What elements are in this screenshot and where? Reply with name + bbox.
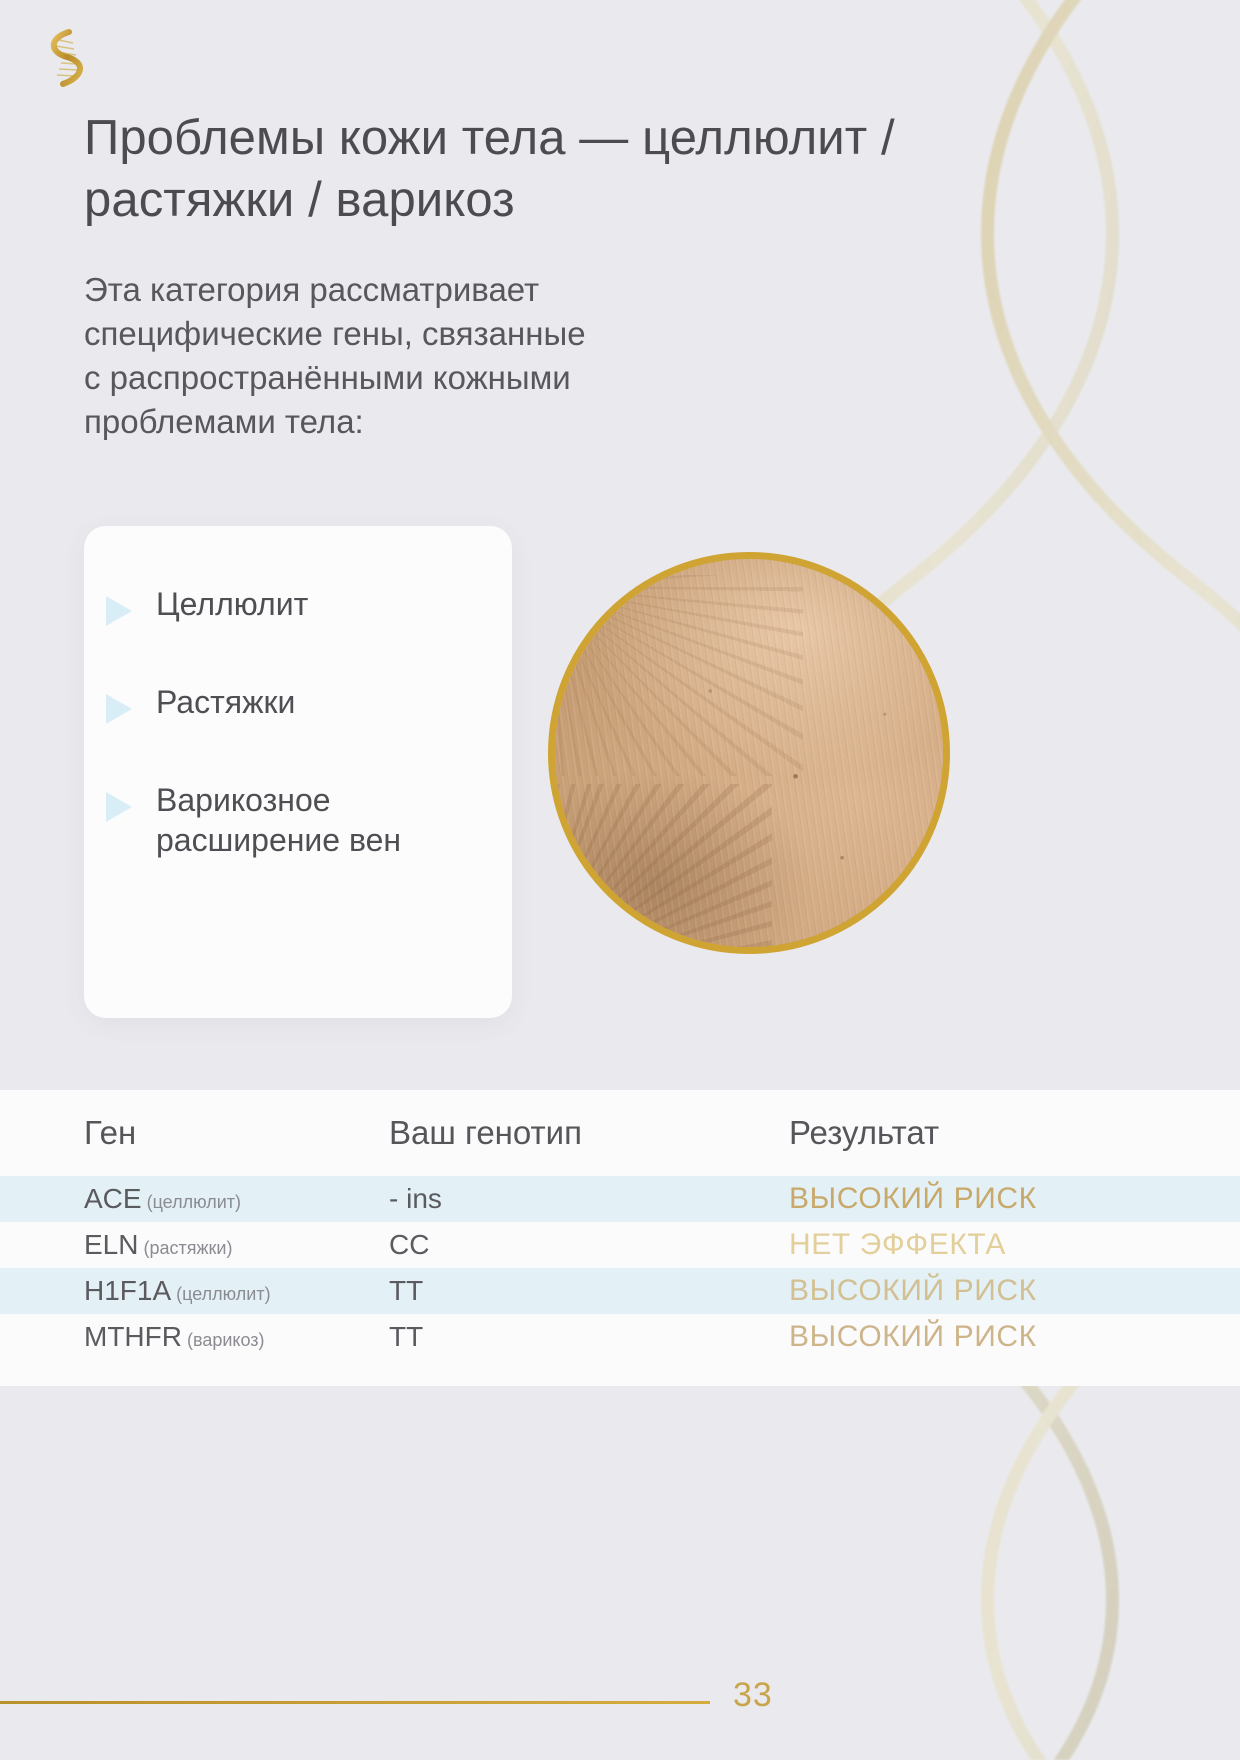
cell-gene: MTHFR(варикоз) [84,1321,389,1353]
skin-closeup-photo [548,552,950,954]
list-item: Варикозное расширение вен [106,780,506,861]
cell-genotype: TT [389,1321,789,1353]
table-row: ACE(целлюлит) - ins ВЫСОКИЙ РИСК [0,1176,1240,1222]
gene-name: ELN [84,1229,138,1260]
list-item-label: Растяжки [156,682,295,722]
intro-line-4: проблемами тела: [84,400,844,444]
slide-page: Проблемы кожи тела — целлюлит / растяжки… [0,0,1240,1754]
gene-note: (целлюлит) [176,1284,270,1304]
intro-paragraph: Эта категория рассматривает специфически… [84,268,844,444]
column-header-result: Результат [789,1114,1240,1152]
list-item-label: Целлюлит [156,584,308,624]
cell-genotype: CC [389,1229,789,1261]
triangle-bullet-icon [106,694,132,724]
cell-genotype: - ins [389,1183,789,1215]
table-row: MTHFR(варикоз) TT ВЫСОКИЙ РИСК [0,1314,1240,1360]
dna-helix-icon [33,26,93,90]
table-header-row: Ген Ваш генотип Результат [0,1090,1240,1176]
gene-name: ACE [84,1183,142,1214]
gene-note: (варикоз) [187,1330,265,1350]
cell-gene: ACE(целлюлит) [84,1183,389,1215]
intro-line-2: специфические гены, связанные [84,312,844,356]
cell-genotype: TT [389,1275,789,1307]
conditions-card: Целлюлит Растяжки Варикозное расширение … [84,526,512,1018]
list-item: Растяжки [106,682,506,724]
conditions-list: Целлюлит Растяжки Варикозное расширение … [106,584,506,861]
column-header-gene: Ген [84,1114,389,1152]
list-item: Целлюлит [106,584,506,626]
column-header-genotype: Ваш генотип [389,1114,789,1152]
triangle-bullet-icon [106,596,132,626]
photo-speck-layer [555,559,943,947]
gene-name: H1F1A [84,1275,171,1306]
intro-line-1: Эта категория рассматривает [84,268,844,312]
gene-name: MTHFR [84,1321,182,1352]
list-item-label: Варикозное расширение вен [156,780,446,861]
cell-gene: ELN(растяжки) [84,1229,389,1261]
cell-result: ВЫСОКИЙ РИСК [789,1182,1240,1216]
intro-line-3: с распространёнными кожными [84,356,844,400]
gene-note: (целлюлит) [147,1192,241,1212]
cell-gene: H1F1A(целлюлит) [84,1275,389,1307]
table-row: H1F1A(целлюлит) TT ВЫСОКИЙ РИСК [0,1268,1240,1314]
gene-note: (растяжки) [143,1238,232,1258]
page-title-line-1: Проблемы кожи тела — [84,111,628,165]
page-title: Проблемы кожи тела — целлюлит / растяжки… [84,108,964,231]
cell-result: ВЫСОКИЙ РИСК [789,1274,1240,1308]
triangle-bullet-icon [106,792,132,822]
table-row: ELN(растяжки) CC НЕТ ЭФФЕКТА [0,1222,1240,1268]
cell-result: НЕТ ЭФФЕКТА [789,1228,1240,1262]
genotype-results-table: Ген Ваш генотип Результат ACE(целлюлит) … [0,1090,1240,1386]
cell-result: ВЫСОКИЙ РИСК [789,1320,1240,1354]
footer-divider [0,1701,710,1704]
page-number: 33 [733,1676,773,1715]
